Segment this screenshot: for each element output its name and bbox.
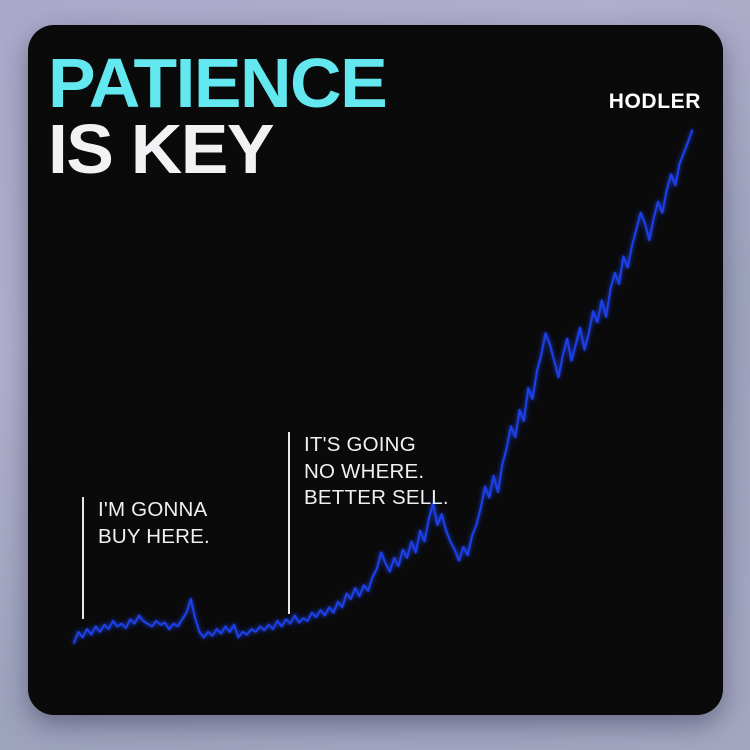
headline-line-plain: IS KEY [48, 117, 386, 183]
sell-annotation-text: IT'S GOING NO WHERE. BETTER SELL. [304, 432, 449, 512]
sell-annotation-rule [288, 432, 290, 614]
poster-card: PATIENCE IS KEY HODLER I'M GONNA BUY HER… [28, 25, 723, 715]
buy-annotation-line-2: BUY HERE. [98, 524, 210, 551]
page-title: PATIENCE IS KEY [48, 51, 380, 183]
sell-annotation-line-2: NO WHERE. [304, 459, 449, 486]
sell-annotation-line-3: BETTER SELL. [304, 485, 449, 512]
hodler-label: HODLER [609, 90, 701, 114]
buy-annotation-rule [82, 497, 84, 619]
buy-annotation: I'M GONNA BUY HERE. [82, 497, 210, 619]
buy-annotation-line-1: I'M GONNA [98, 497, 210, 524]
headline-line-accent: PATIENCE [48, 51, 386, 117]
sell-annotation: IT'S GOING NO WHERE. BETTER SELL. [288, 432, 449, 614]
sell-annotation-line-1: IT'S GOING [304, 432, 449, 459]
buy-annotation-text: I'M GONNA BUY HERE. [98, 497, 210, 550]
